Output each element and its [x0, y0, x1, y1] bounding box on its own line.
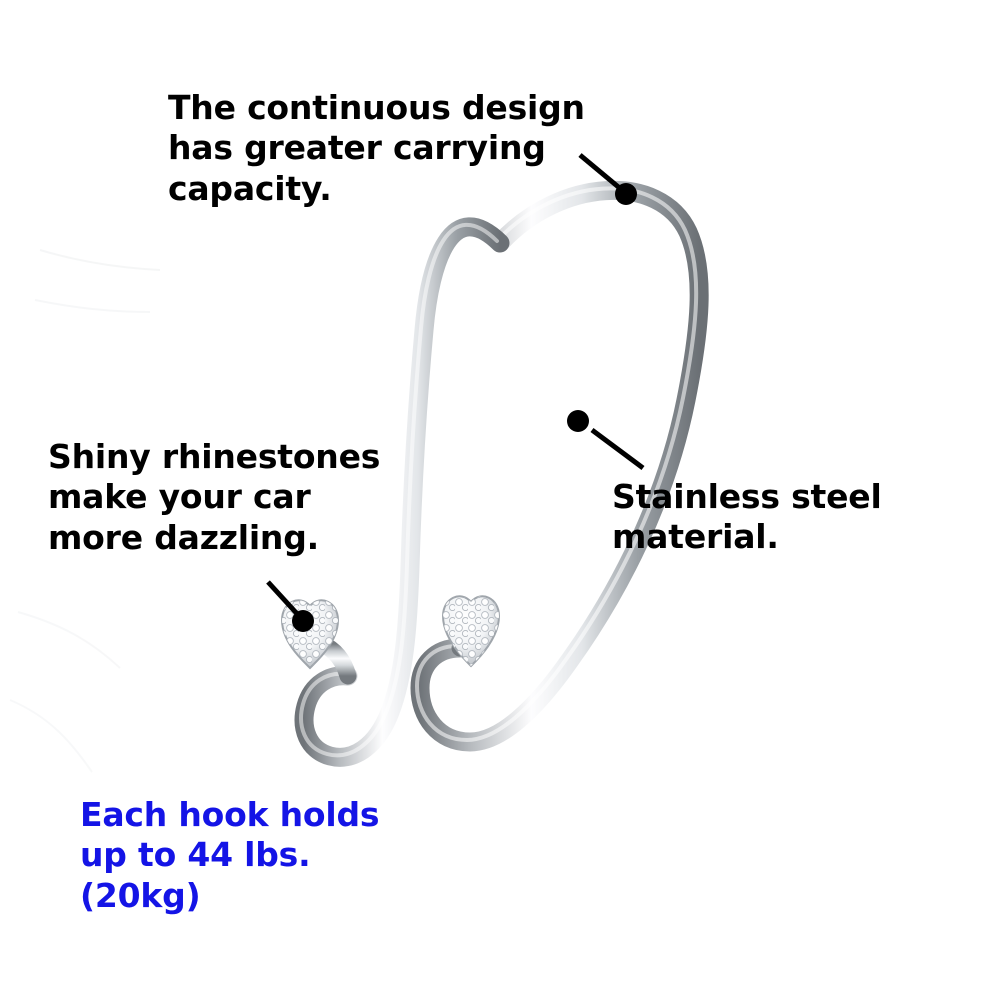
- callout-weight-capacity: Each hook holds up to 44 lbs. (20kg): [80, 795, 379, 916]
- callout-dot-top: [615, 183, 637, 205]
- callout-stainless-steel: Stainless steel material.: [612, 477, 882, 558]
- callout-dot-right: [567, 410, 589, 432]
- callout-shiny-rhinestones: Shiny rhinestones make your car more daz…: [48, 437, 380, 558]
- hook-outer-arm: [417, 188, 699, 742]
- callout-dot-left: [292, 610, 314, 632]
- leader-line-right: [567, 410, 643, 468]
- callout-continuous-design: The continuous design has greater carryi…: [168, 88, 585, 209]
- product-infographic: The continuous design has greater carryi…: [0, 0, 1000, 1000]
